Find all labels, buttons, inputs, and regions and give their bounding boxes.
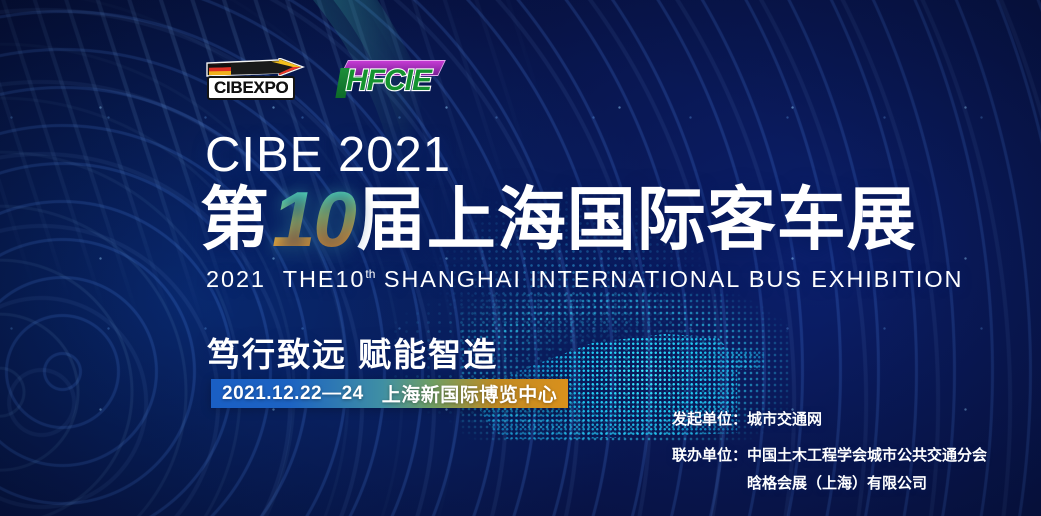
date-venue-bar: 2021.12.22—24 上海新国际博览中心 <box>211 379 568 408</box>
headline-edition-number: 10 <box>270 180 357 258</box>
organizer-value: 城市交通网 <box>747 408 822 431</box>
headline-chinese: 第10届上海国际客车展 <box>200 180 917 258</box>
hfcie-wordmark-text: HFCIE <box>346 66 431 96</box>
organizer-line: 晗格会展（上海）有限公司 <box>747 472 987 495</box>
organizer-row: 联办单位： 中国土木工程学会城市公共交通分会 晗格会展（上海）有限公司 <box>672 444 987 495</box>
headline-prefix: 第 <box>200 185 270 254</box>
cibexpo-wordmark-text: CIBEXPO <box>214 79 288 96</box>
headline-suffix: 届上海国际客车展 <box>357 185 917 254</box>
logo-row: CIBEXPO HFCIE <box>205 56 443 106</box>
subline-ordinal-suffix: th <box>365 267 375 281</box>
organizers-block: 发起单位： 城市交通网 联办单位： 中国土木工程学会城市公共交通分会 晗格会展（… <box>672 408 987 495</box>
subline-ordinal: THE10 <box>283 266 366 292</box>
subline-year: 2021 <box>206 266 266 292</box>
organizer-line: 中国土木工程学会城市公共交通分会 <box>747 444 987 467</box>
organizer-line: 城市交通网 <box>747 408 822 431</box>
event-venue: 上海新国际博览中心 <box>382 380 558 407</box>
event-poster: CIBEXPO HFCIE CIBE 2021 第10届上海国际客车展 2021… <box>0 0 1041 516</box>
event-dates: 2021.12.22—24 <box>222 383 364 405</box>
organizer-row: 发起单位： 城市交通网 <box>672 408 987 431</box>
organizer-label: 发起单位： <box>672 408 747 431</box>
hfcie-logo[interactable]: HFCIE <box>338 58 443 104</box>
cibexpo-logo[interactable]: CIBEXPO <box>205 56 308 106</box>
slogan: 笃行致远 赋能智造 <box>207 328 498 376</box>
subline-rest: SHANGHAI INTERNATIONAL BUS EXHIBITION <box>384 266 964 292</box>
organizer-label: 联办单位： <box>672 444 747 495</box>
cibexpo-wordmark: CIBEXPO <box>207 76 295 100</box>
headline-english: 2021 THE10th SHANGHAI INTERNATIONAL BUS … <box>206 266 963 293</box>
organizer-value: 中国土木工程学会城市公共交通分会 晗格会展（上海）有限公司 <box>747 444 987 495</box>
